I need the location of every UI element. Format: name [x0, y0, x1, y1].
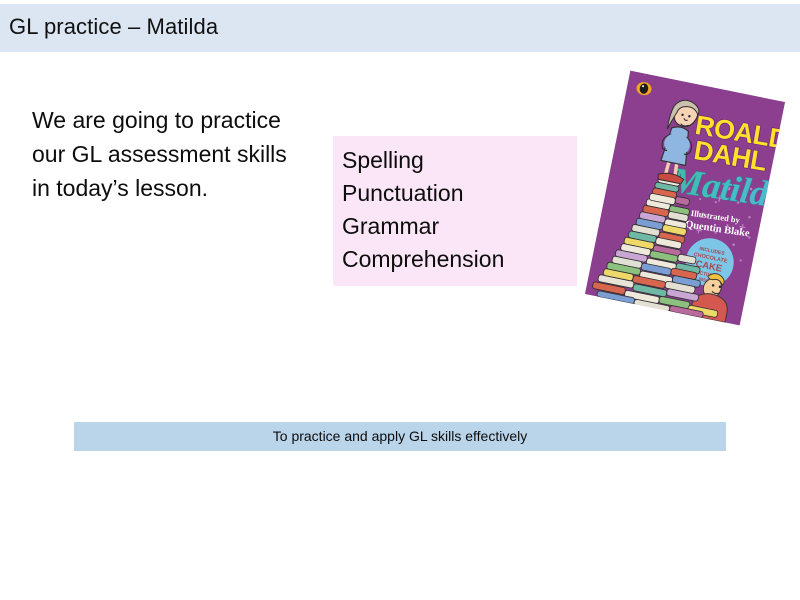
skills-callout-box: Spelling Punctuation Grammar Comprehensi… [333, 136, 577, 286]
slide-title-bar: GL practice – Matilda [0, 4, 800, 52]
page-title: GL practice – Matilda [9, 12, 218, 42]
matilda-book-cover: ROALD DAHL Matilda Illustrated by Quenti… [585, 71, 785, 326]
slide-canvas: GL practice – Matilda We are going to pr… [0, 0, 800, 600]
intro-paragraph: We are going to practice our GL assessme… [32, 103, 302, 205]
lesson-objective-banner: To practice and apply GL skills effectiv… [74, 422, 726, 451]
book-cover-artwork: ROALD DAHL Matilda Illustrated by Quenti… [585, 71, 785, 326]
book-cover-image: ROALD DAHL Matilda Illustrated by Quenti… [546, 62, 796, 332]
skills-list: Spelling Punctuation Grammar Comprehensi… [342, 144, 504, 276]
lesson-objective-text: To practice and apply GL skills effectiv… [74, 422, 726, 451]
